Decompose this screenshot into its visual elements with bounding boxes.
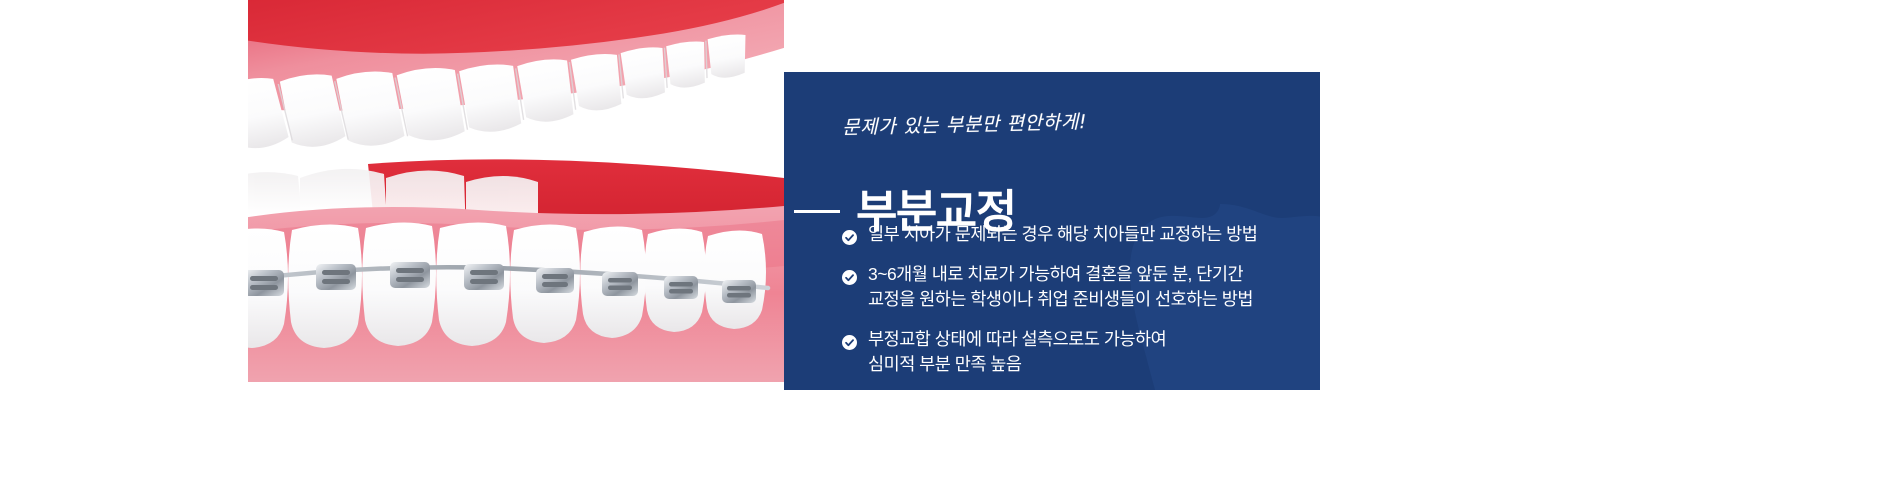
check-circle-icon [842,227,857,242]
list-item: 3~6개월 내로 치료가 가능하여 결혼을 앞둔 분, 단기간 교정을 원하는 … [842,262,1302,313]
dental-braces-photo [248,0,784,400]
list-item-label: 부정교합 상태에 따라 설측으로도 가능하여 심미적 부분 만족 높음 [868,327,1166,378]
banner-root: 문제가 있는 부분만 편안하게! 부분교정 일부 치아가 문제되는 경우 해당 … [0,0,1903,480]
list-item: 부정교합 상태에 따라 설측으로도 가능하여 심미적 부분 만족 높음 [842,327,1302,378]
list-item: 일부 치아가 문제되는 경우 해당 치아들만 교정하는 방법 [842,222,1302,248]
check-circle-icon [842,267,857,282]
list-item-label: 3~6개월 내로 치료가 가능하여 결혼을 앞둔 분, 단기간 교정을 원하는 … [868,262,1253,313]
info-panel: 문제가 있는 부분만 편안하게! 부분교정 일부 치아가 문제되는 경우 해당 … [784,72,1320,390]
panel-tagline: 문제가 있는 부분만 편안하게! [842,107,1088,140]
feature-list: 일부 치아가 문제되는 경우 해당 치아들만 교정하는 방법 3~6개월 내로 … [842,222,1302,378]
title-dash-icon [794,210,840,213]
list-item-label: 일부 치아가 문제되는 경우 해당 치아들만 교정하는 방법 [868,222,1257,248]
check-circle-icon [842,332,857,347]
